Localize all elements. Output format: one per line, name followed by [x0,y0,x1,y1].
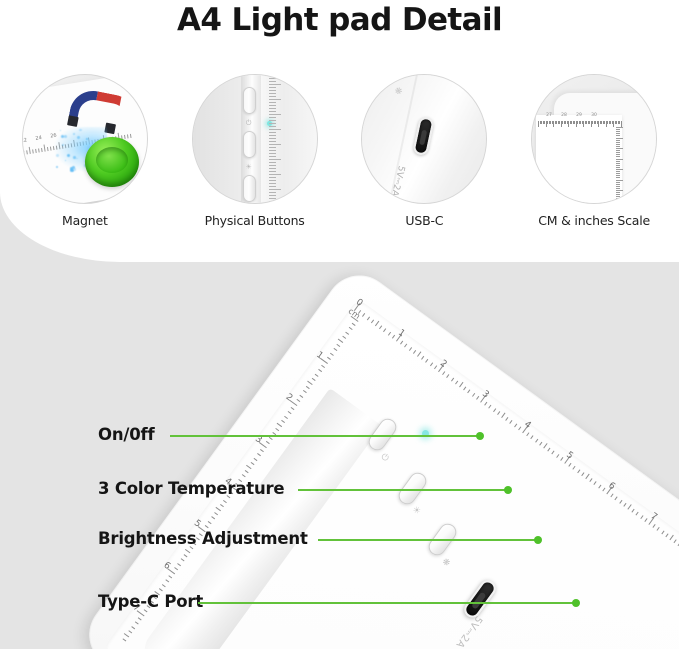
callout-label-brightness-adjustment: Brightness Adjustment [98,528,308,550]
callout-label-type-c-port: Type-C Port [98,591,203,613]
callout-dot-on-off [476,432,484,440]
callout-dot-type-c-port [572,599,580,607]
callout-line-type-c-port [198,602,578,604]
callout-label-on-off: On/0ff [98,424,154,446]
callout-list: On/0ff 3 Color Temperature Brightness Ad… [0,0,679,649]
callout-line-on-off [170,435,482,437]
callout-label-color-temperature: 3 Color Temperature [98,478,284,500]
callout-line-brightness-adjustment [318,539,540,541]
callout-line-color-temperature [298,489,510,491]
product-detail-page: cm 0123456789 1234567 ⏻ ☀ ❋ 5V⎓2A A4 Lig… [0,0,679,649]
callout-dot-brightness-adjustment [534,536,542,544]
callout-dot-color-temperature [504,486,512,494]
